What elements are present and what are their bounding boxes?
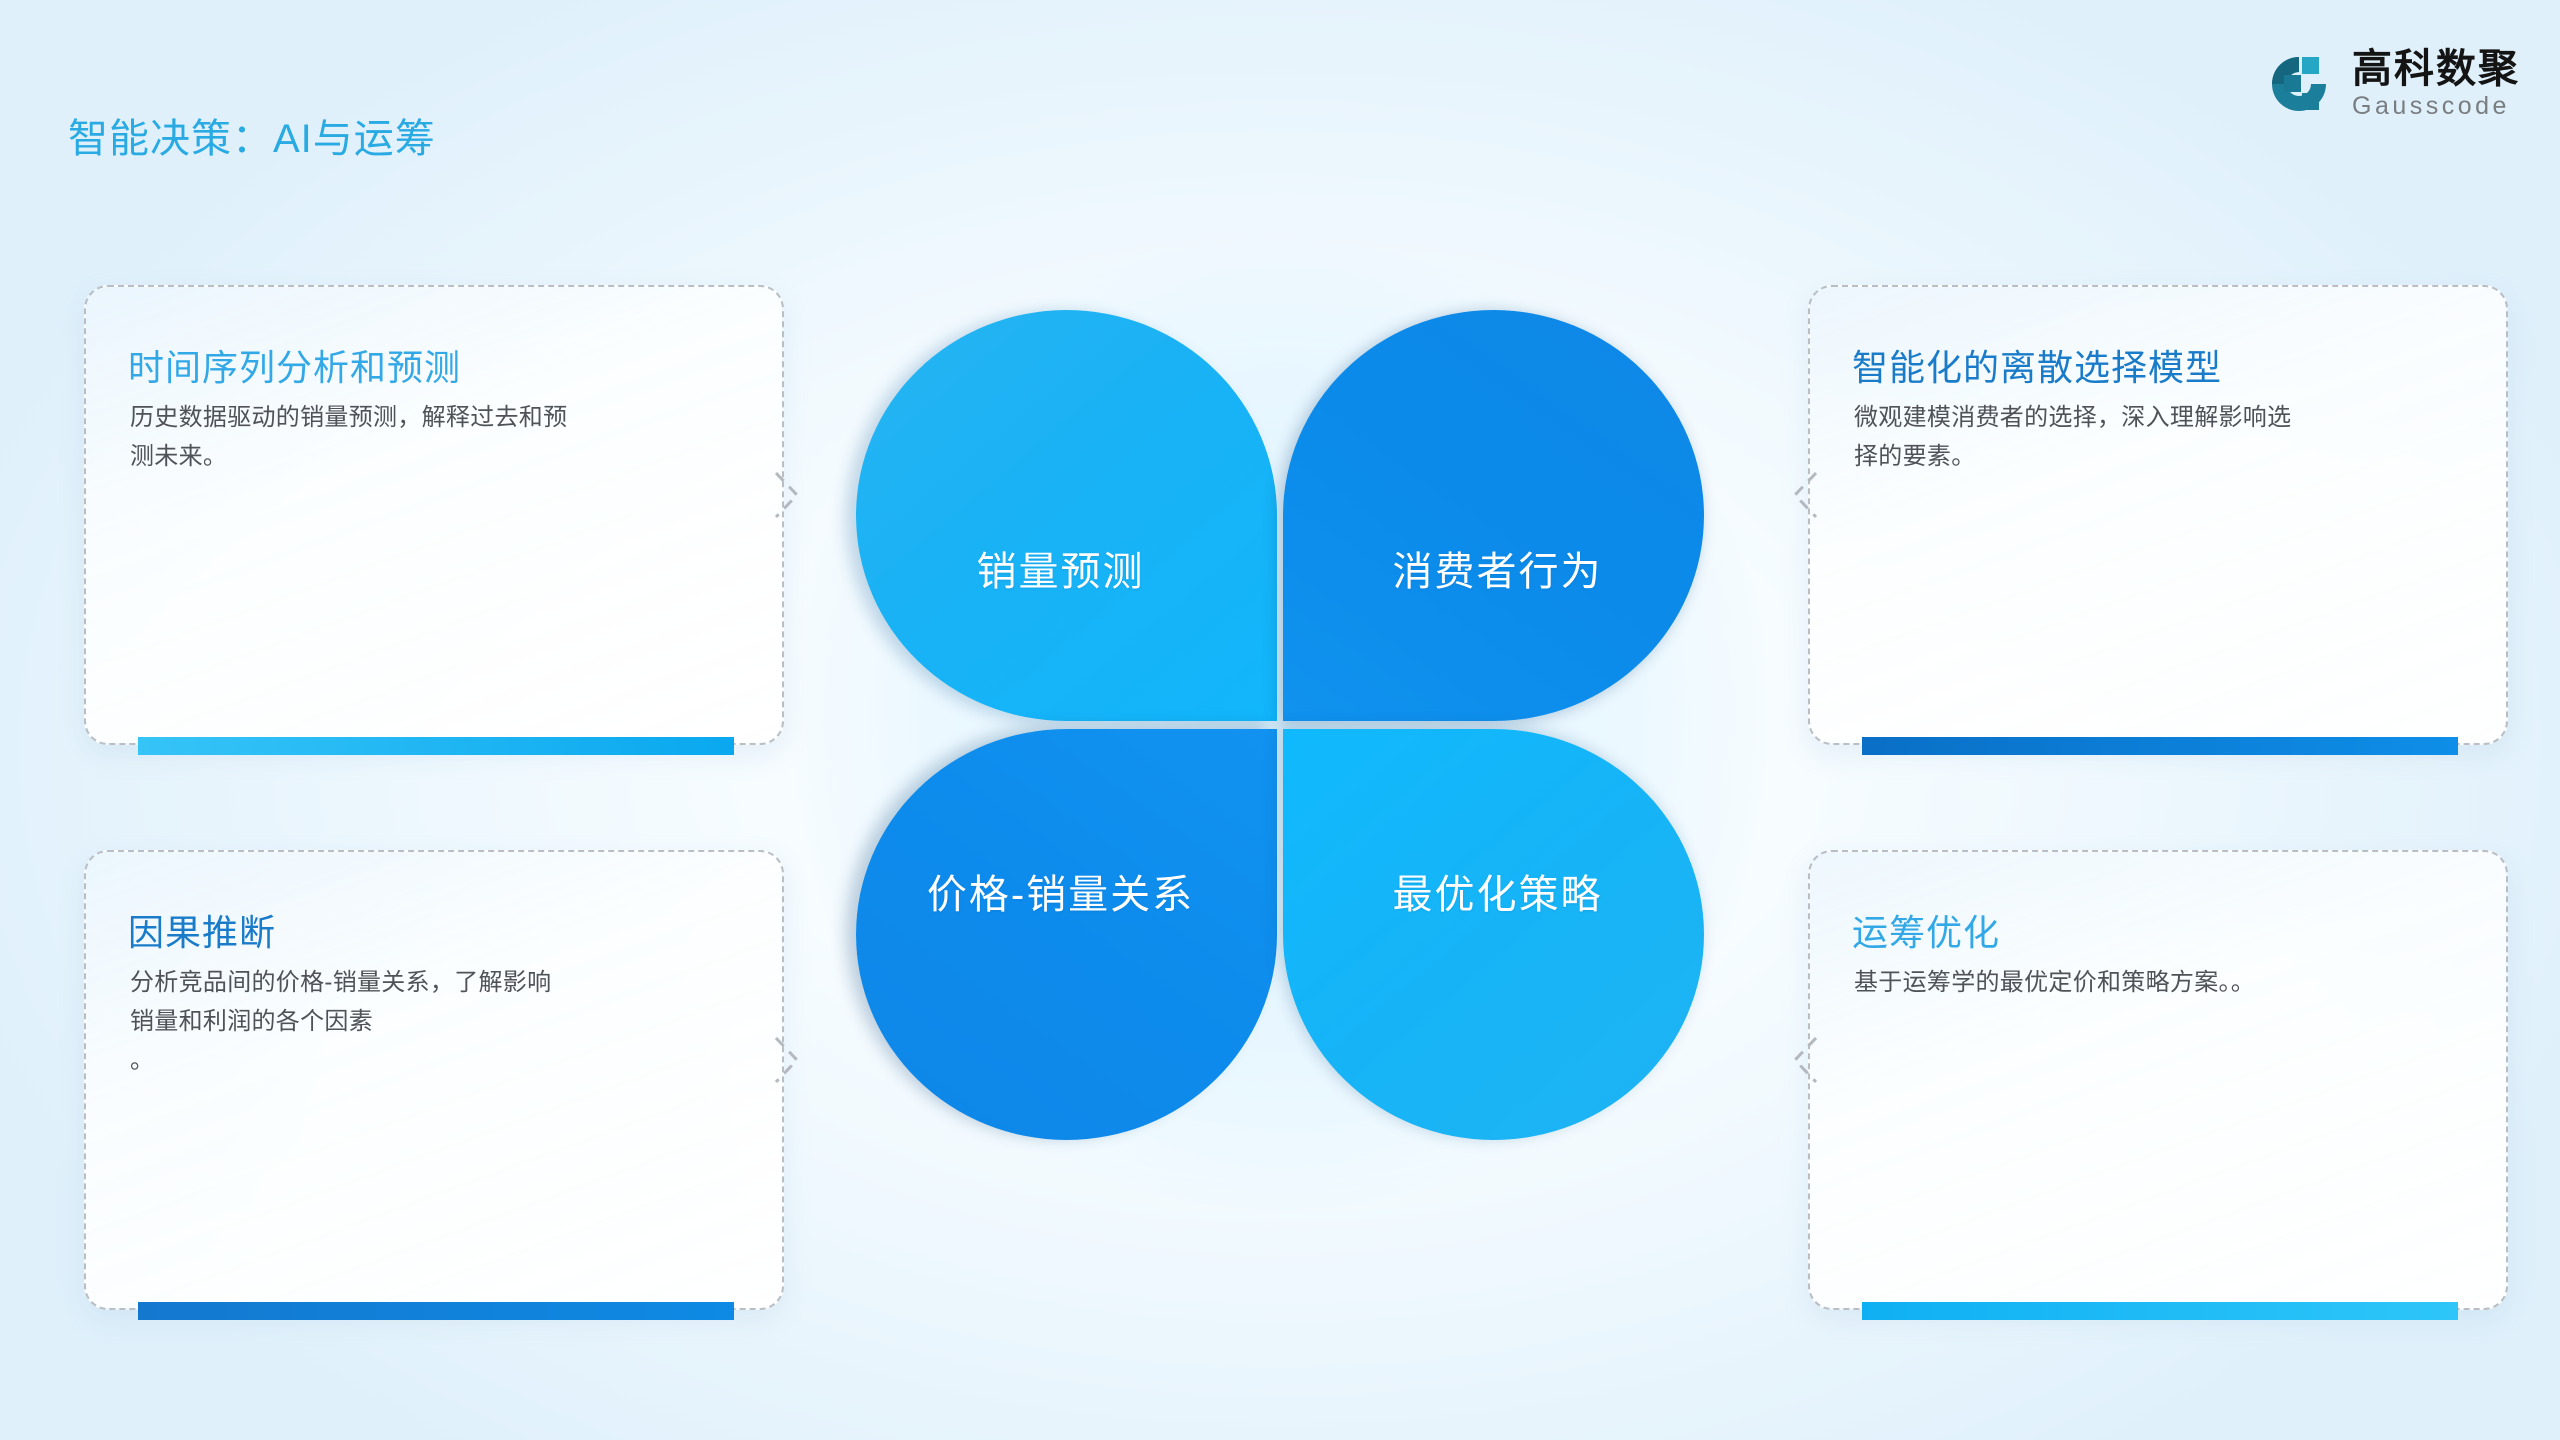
brand-logo: 高科数聚 Gausscode [2268, 48, 2520, 121]
petal-consumer-behavior[interactable]: 消费者行为 [1283, 310, 1704, 721]
petal-optimal-strategy[interactable]: 最优化策略 [1283, 729, 1704, 1140]
card-accent-bar [1862, 1302, 2458, 1320]
petal-label: 最优化策略 [1393, 862, 1603, 920]
logo-en-name: Gausscode [2352, 92, 2520, 121]
logo-wordmark: 高科数聚 Gausscode [2352, 48, 2520, 121]
petal-sales-forecast[interactable]: 销量预测 [856, 310, 1277, 721]
card-description: 历史数据驱动的销量预测，解释过去和预 测未来。 [130, 399, 742, 477]
petal-label: 价格-销量关系 [927, 862, 1194, 920]
card-description: 分析竞品间的价格-销量关系，了解影响 销量和利润的各个因素 。 [130, 964, 742, 1081]
card-title: 智能化的离散选择模型 [1852, 339, 2222, 391]
card-accent-bar [138, 1302, 734, 1320]
logo-cn-name: 高科数聚 [2352, 48, 2520, 90]
petal-label: 消费者行为 [1393, 539, 1603, 597]
card-operations-research[interactable]: 运筹优化 基于运筹学的最优定价和策略方案。。 [1808, 850, 2508, 1310]
petal-label: 销量预测 [977, 539, 1145, 597]
chevron-right-icon [770, 1032, 804, 1088]
petal-price-volume-relation[interactable]: 价格-销量关系 [856, 729, 1277, 1140]
card-accent-bar [1862, 737, 2458, 755]
card-accent-bar [138, 737, 734, 755]
card-title: 时间序列分析和预测 [128, 339, 461, 391]
card-title: 因果推断 [128, 904, 276, 956]
chevron-left-icon [1788, 467, 1822, 523]
card-discrete-choice[interactable]: 智能化的离散选择模型 微观建模消费者的选择，深入理解影响选 择的要素。 [1808, 285, 2508, 745]
card-description: 基于运筹学的最优定价和策略方案。。 [1854, 964, 2466, 1003]
card-description: 微观建模消费者的选择，深入理解影响选 择的要素。 [1854, 399, 2466, 477]
page-title: 智能决策：AI与运筹 [68, 106, 436, 164]
card-title: 运筹优化 [1852, 904, 2000, 956]
card-causal-inference[interactable]: 因果推断 分析竞品间的价格-销量关系，了解影响 销量和利润的各个因素 。 [84, 850, 784, 1310]
slide-canvas: 智能决策：AI与运筹 高科数聚 Gausscode 销量预测 消费者行为 价格-… [0, 0, 2560, 1440]
chevron-left-icon [1788, 1032, 1822, 1088]
chevron-right-icon [770, 467, 804, 523]
four-petal-diagram: 销量预测 消费者行为 价格-销量关系 最优化策略 [856, 310, 1704, 1140]
card-time-series[interactable]: 时间序列分析和预测 历史数据驱动的销量预测，解释过去和预 测未来。 [84, 285, 784, 745]
gausscode-logo-icon [2268, 53, 2330, 115]
